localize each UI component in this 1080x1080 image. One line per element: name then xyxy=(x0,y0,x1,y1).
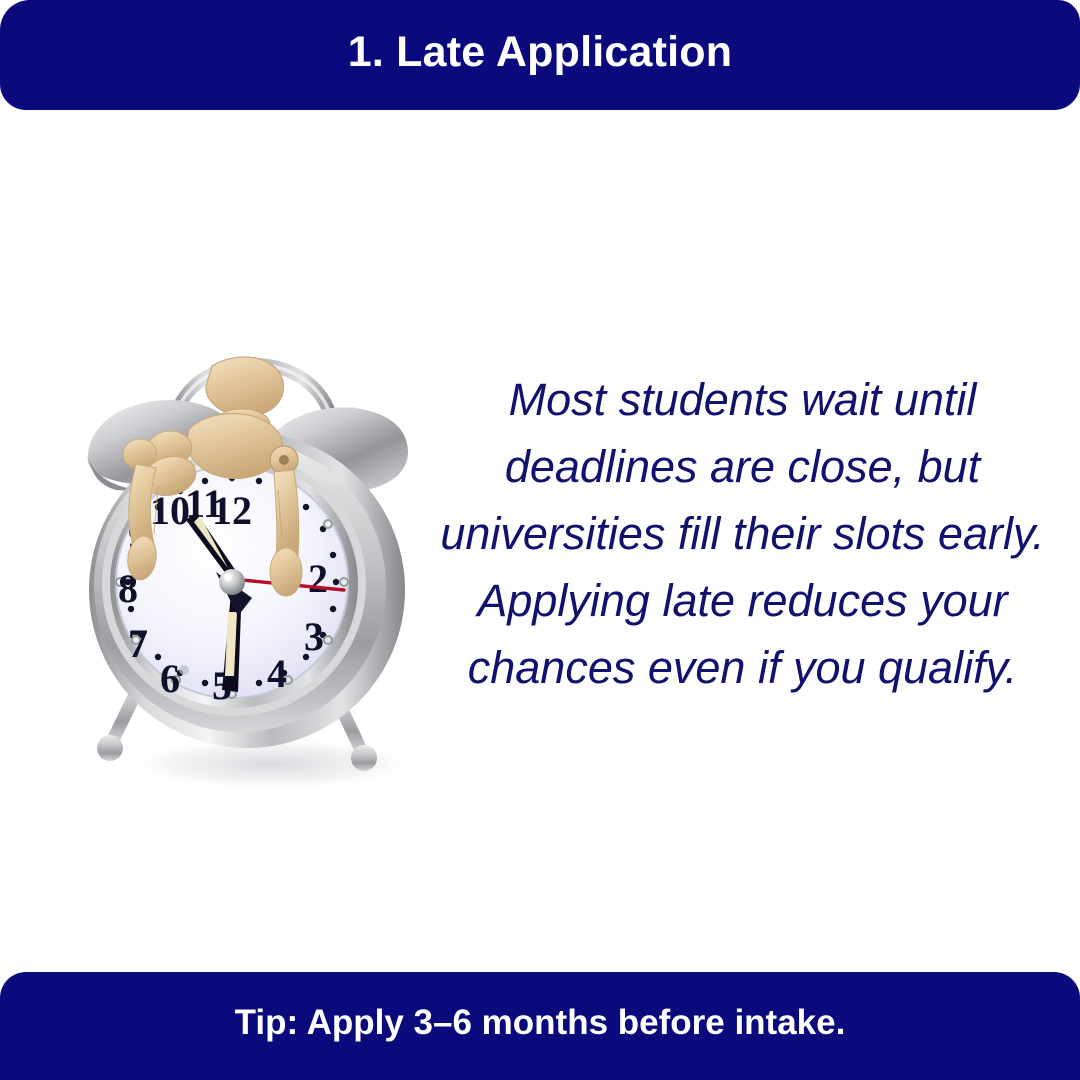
footer-tip-text: Tip: Apply 3–6 months before intake. xyxy=(235,1005,846,1040)
svg-text:6: 6 xyxy=(160,656,180,701)
svg-text:4: 4 xyxy=(267,651,287,696)
alarm-clock-illustration: 12 1 2 3 4 5 6 7 8 9 10 11 xyxy=(62,272,442,802)
body-paragraph-2: Applying late reduces your chances even … xyxy=(430,567,1055,701)
body-paragraph-1: Most students wait until deadlines are c… xyxy=(430,366,1055,567)
svg-text:7: 7 xyxy=(128,621,148,666)
body-copy: Most students wait until deadlines are c… xyxy=(430,366,1055,701)
footer-tip-banner: Tip: Apply 3–6 months before intake. xyxy=(0,972,1080,1080)
svg-text:3: 3 xyxy=(304,614,324,659)
page-title: 1. Late Application xyxy=(348,31,732,74)
svg-text:2: 2 xyxy=(308,556,328,601)
slide-canvas: 1. Late Application xyxy=(0,0,1080,1080)
header-banner: 1. Late Application xyxy=(0,0,1080,110)
